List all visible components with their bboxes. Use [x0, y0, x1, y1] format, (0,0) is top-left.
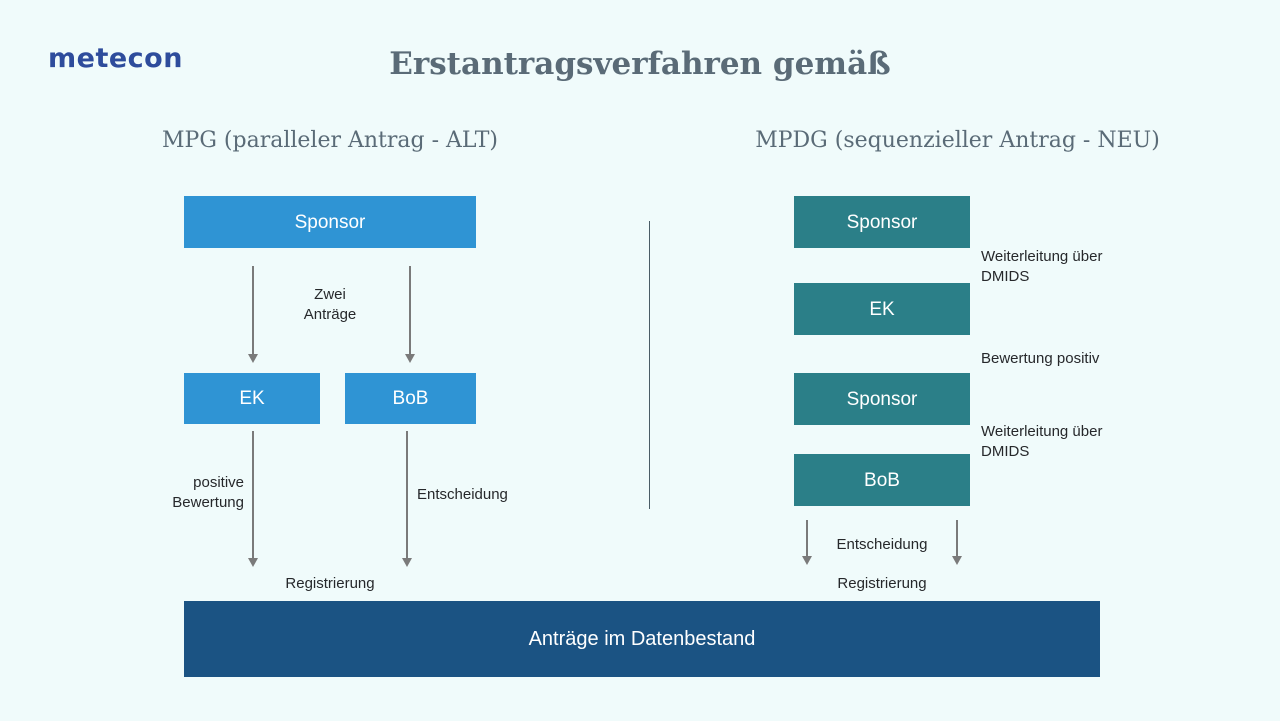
- right-label-registration: Registrierung: [812, 574, 952, 594]
- left-label-positive-evaluation: positive Bewertung: [120, 473, 244, 514]
- left-box-ek: EK: [184, 373, 320, 424]
- right-arrow-bob-right: [951, 520, 963, 565]
- left-arrow-ek-to-database: [247, 431, 259, 567]
- left-box-sponsor: Sponsor: [184, 196, 476, 248]
- right-box-ek: EK: [794, 283, 970, 335]
- right-box-sponsor-1: Sponsor: [794, 196, 970, 248]
- right-label-evaluation-positive: Bewertung positiv: [981, 349, 1181, 369]
- page-title: Erstantragsverfahren gemäß: [0, 46, 1280, 82]
- right-box-bob: BoB: [794, 454, 970, 506]
- database-bar: Anträge im Datenbestand: [184, 601, 1100, 677]
- left-arrow-sponsor-to-ek: [247, 266, 259, 363]
- right-label-decision: Entscheidung: [812, 535, 952, 555]
- left-box-bob: BoB: [345, 373, 476, 424]
- left-arrow-bob-to-database: [401, 431, 413, 567]
- right-label-forwarding-1: Weiterleitung über DMIDS: [981, 247, 1181, 288]
- left-label-registration: Registrierung: [255, 574, 405, 594]
- left-label-decision: Entscheidung: [417, 485, 577, 505]
- right-box-sponsor-2: Sponsor: [794, 373, 970, 425]
- column-title-right: MPDG (sequenzieller Antrag - NEU): [655, 128, 1260, 153]
- right-label-forwarding-2: Weiterleitung über DMIDS: [981, 422, 1181, 463]
- slide-canvas: metecon Erstantragsverfahren gemäß MPG (…: [0, 0, 1280, 721]
- left-label-two-applications: Zwei Anträge: [265, 285, 395, 326]
- column-divider: [649, 221, 650, 509]
- left-arrow-sponsor-to-bob: [404, 266, 416, 363]
- column-title-left: MPG (paralleler Antrag - ALT): [40, 128, 620, 153]
